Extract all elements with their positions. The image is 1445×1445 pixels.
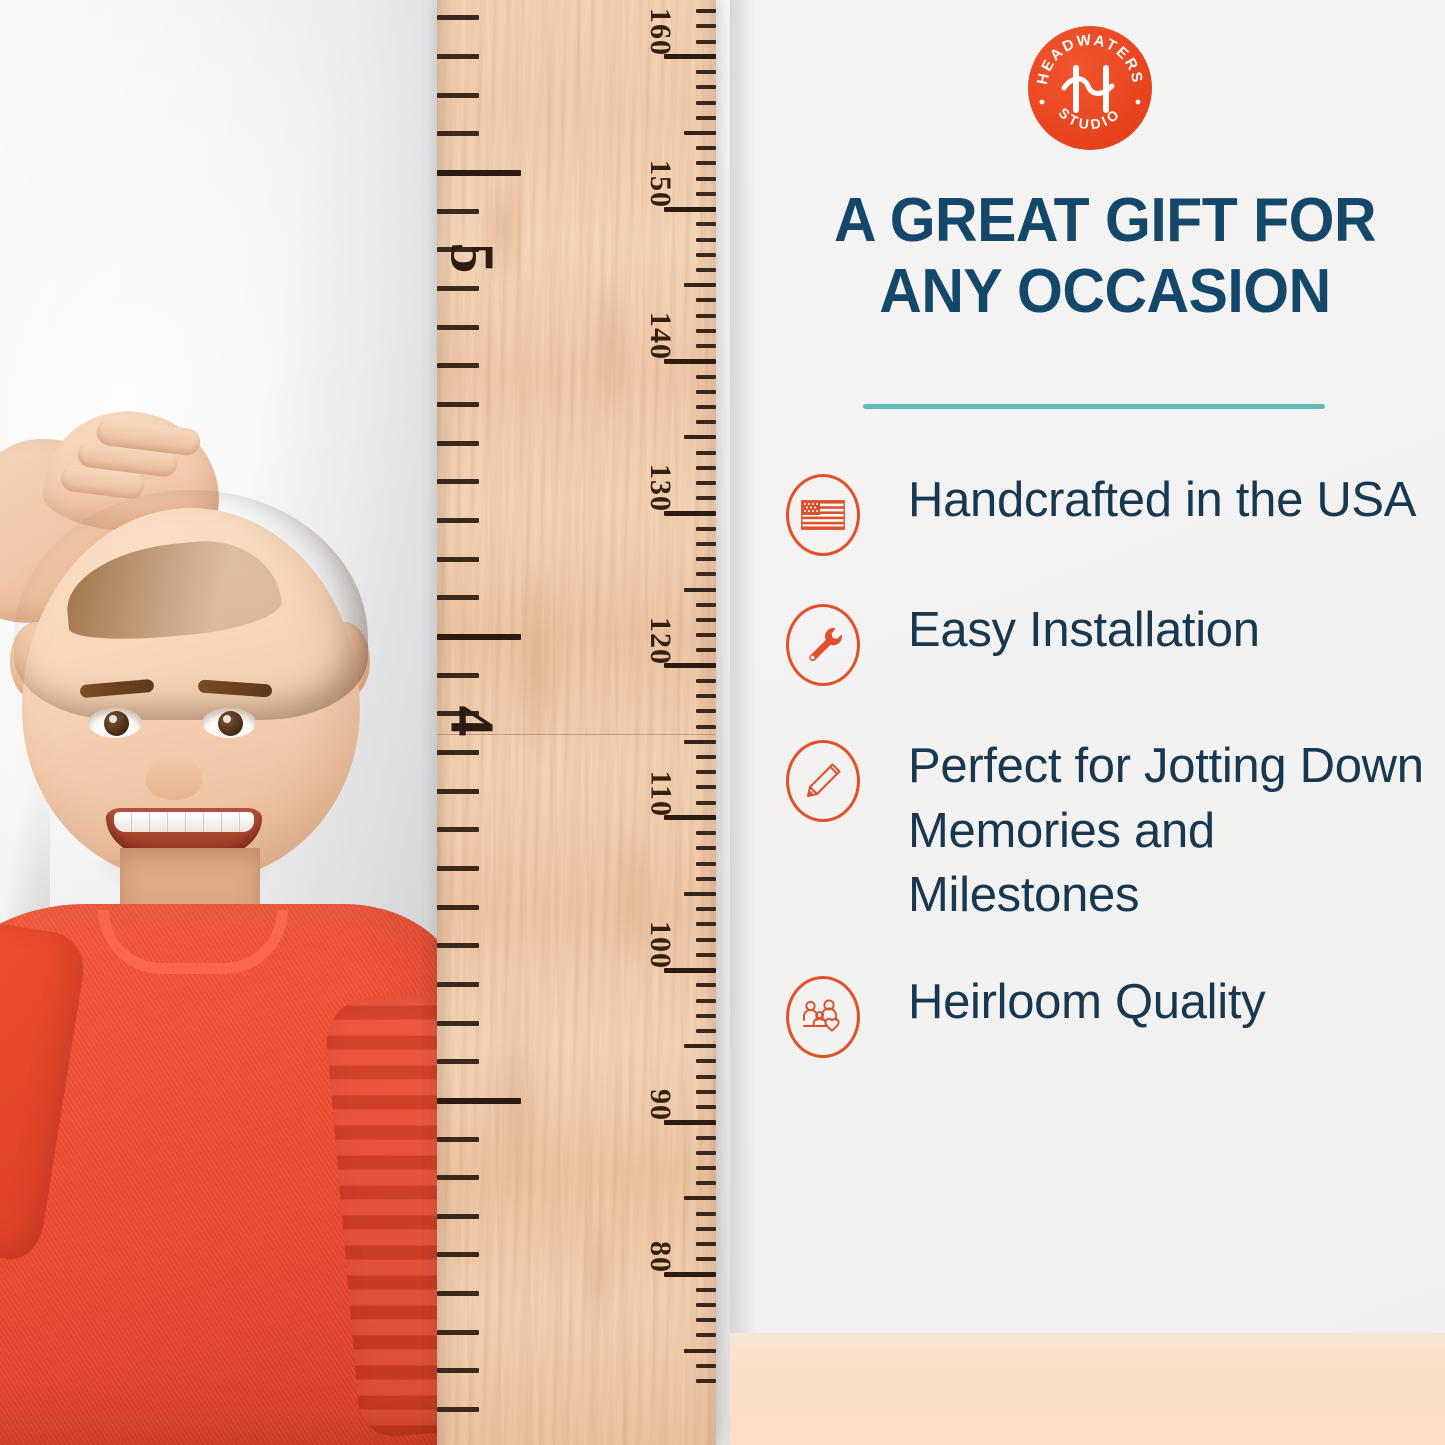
- inch-tick: [437, 131, 479, 136]
- headline-line-1: A GREAT GIFT FOR: [777, 186, 1433, 257]
- inch-tick: [437, 325, 479, 330]
- cm-minor-tick: [696, 1090, 716, 1094]
- inch-tick: [437, 518, 479, 523]
- feature-row-heirloom: Heirloom Quality: [786, 968, 1426, 1058]
- inch-tick: [437, 286, 479, 291]
- cm-minor-tick: [696, 694, 716, 698]
- cm-minor-tick: [696, 603, 716, 607]
- inch-tick: [437, 54, 479, 59]
- cm-minor-tick: [696, 557, 716, 561]
- cm-mid-tick: [684, 740, 716, 744]
- cm-minor-tick: [696, 146, 716, 150]
- inch-tick: [437, 1330, 479, 1335]
- cm-minor-tick: [696, 1166, 716, 1170]
- cm-minor-tick: [696, 907, 716, 911]
- cm-minor-tick: [696, 314, 716, 318]
- feet-scale: 54: [437, 0, 557, 1445]
- cm-minor-tick: [696, 785, 716, 789]
- cm-mid-tick: [684, 1196, 716, 1200]
- cm-minor-tick: [696, 648, 716, 652]
- feature-label: Handcrafted in the USA: [908, 466, 1416, 533]
- cm-minor-tick: [696, 953, 716, 957]
- inch-tick: [437, 905, 479, 910]
- headwaters-studio-logo: HEADWATERS STUDIO: [1028, 26, 1152, 150]
- svg-text:STUDIO: STUDIO: [1056, 104, 1125, 132]
- cm-minor-tick: [696, 1364, 716, 1368]
- growth-chart-ruler: 1601501401301201101009080 54: [437, 0, 716, 1445]
- inch-tick: [437, 1252, 479, 1257]
- cm-minor-tick: [696, 375, 716, 379]
- cm-minor-tick: [696, 298, 716, 302]
- cm-minor-tick: [696, 238, 716, 242]
- cm-minor-tick: [696, 1227, 716, 1231]
- logo-arc-top: HEADWATERS: [1034, 31, 1146, 86]
- cm-minor-tick: [696, 527, 716, 531]
- cm-minor-tick: [696, 1303, 716, 1307]
- cm-minor-tick: [696, 451, 716, 455]
- cm-minor-tick: [696, 846, 716, 850]
- inch-tick: [437, 711, 479, 716]
- svg-text:HEADWATERS: HEADWATERS: [1034, 31, 1146, 86]
- eye-right: [202, 708, 256, 738]
- cm-minor-tick: [696, 572, 716, 576]
- cm-label: 100: [643, 921, 677, 969]
- logo-dot: [1136, 100, 1141, 105]
- ruler-drop-shadow: [730, 0, 756, 1445]
- logo-monogram-h: [1064, 68, 1112, 110]
- inch-tick: [437, 1368, 479, 1373]
- cm-minor-tick: [696, 633, 716, 637]
- inch-tick: [437, 866, 479, 871]
- cm-minor-tick: [696, 40, 716, 44]
- cm-minor-tick: [696, 1059, 716, 1063]
- feet-major-tick: [437, 1098, 521, 1104]
- feature-label: Easy Installation: [908, 596, 1260, 663]
- product-lifestyle-photo: 1601501401301201101009080 54: [0, 0, 730, 1445]
- inch-tick: [437, 363, 479, 368]
- cm-minor-tick: [696, 1212, 716, 1216]
- cm-mid-tick: [684, 283, 716, 287]
- cm-minor-tick: [696, 70, 716, 74]
- feature-row-handcrafted: Handcrafted in the USA: [786, 466, 1426, 556]
- inch-tick: [437, 557, 479, 562]
- cm-minor-tick: [696, 222, 716, 226]
- inch-tick: [437, 1137, 479, 1142]
- cm-minor-tick: [696, 466, 716, 470]
- inch-tick: [437, 943, 479, 948]
- cm-minor-tick: [696, 192, 716, 196]
- inch-tick: [437, 441, 479, 446]
- inch-tick: [437, 1175, 479, 1180]
- cm-minor-tick: [696, 938, 716, 942]
- inch-tick: [437, 93, 479, 98]
- feature-list: Handcrafted in the USA Easy Installation: [786, 466, 1426, 1092]
- inch-tick: [437, 402, 479, 407]
- inch-tick: [437, 247, 479, 252]
- cm-minor-tick: [696, 101, 716, 105]
- cm-minor-tick: [696, 177, 716, 181]
- cm-minor-tick: [696, 1181, 716, 1185]
- cm-minor-tick: [696, 390, 716, 394]
- cm-label: 110: [643, 771, 677, 817]
- inch-tick: [437, 827, 479, 832]
- cm-minor-tick: [696, 1136, 716, 1140]
- inch-tick: [437, 1291, 479, 1296]
- cm-minor-tick: [696, 253, 716, 257]
- inch-tick: [437, 982, 479, 987]
- cm-minor-tick: [696, 755, 716, 759]
- cm-minor-tick: [696, 801, 716, 805]
- cm-mid-tick: [684, 892, 716, 896]
- cm-mid-tick: [684, 588, 716, 592]
- cm-label: 140: [643, 312, 677, 360]
- inch-tick: [437, 673, 479, 678]
- inch-tick: [437, 209, 479, 214]
- cm-label: 130: [643, 464, 677, 512]
- cm-label: 150: [643, 160, 677, 208]
- cm-minor-tick: [696, 1105, 716, 1109]
- cm-minor-tick: [696, 709, 716, 713]
- page-title: A GREAT GIFT FOR ANY OCCASION: [777, 186, 1433, 327]
- cm-minor-tick: [696, 999, 716, 1003]
- wrench-icon: [786, 604, 860, 686]
- feature-label: Heirloom Quality: [908, 968, 1265, 1035]
- cm-minor-tick: [696, 161, 716, 165]
- inch-tick: [437, 789, 479, 794]
- child-subject: [0, 404, 460, 1445]
- cm-minor-tick: [696, 1333, 716, 1337]
- nose: [146, 754, 202, 800]
- cm-minor-tick: [696, 1151, 716, 1155]
- marketing-image: 1601501401301201101009080 54 HEADWATERS …: [0, 0, 1445, 1445]
- cm-minor-tick: [696, 1242, 716, 1246]
- cm-minor-tick: [696, 1288, 716, 1292]
- feature-row-installation: Easy Installation: [786, 596, 1426, 686]
- cm-minor-tick: [696, 1379, 716, 1383]
- cm-minor-tick: [696, 618, 716, 622]
- cm-minor-tick: [696, 542, 716, 546]
- cm-mid-tick: [684, 435, 716, 439]
- cm-minor-tick: [696, 496, 716, 500]
- usa-flag-icon: [786, 474, 860, 556]
- inch-tick: [437, 479, 479, 484]
- cm-mid-tick: [684, 131, 716, 135]
- family-heart-icon: [786, 976, 860, 1058]
- cm-minor-tick: [696, 679, 716, 683]
- inch-tick: [437, 1407, 479, 1412]
- cm-label: 90: [643, 1089, 677, 1121]
- inch-tick: [437, 750, 479, 755]
- inch-tick: [437, 595, 479, 600]
- cm-minor-tick: [696, 329, 716, 333]
- cm-minor-tick: [696, 116, 716, 120]
- floor-right: [730, 1333, 1445, 1445]
- cm-minor-tick: [696, 9, 716, 13]
- cm-minor-tick: [696, 344, 716, 348]
- cm-minor-tick: [696, 24, 716, 28]
- inch-tick: [437, 1059, 479, 1064]
- cm-minor-tick: [696, 1257, 716, 1261]
- feet-major-tick: [437, 634, 521, 640]
- cm-label: 120: [643, 617, 677, 665]
- cm-minor-tick: [696, 983, 716, 987]
- cm-mid-tick: [684, 1044, 716, 1048]
- cm-minor-tick: [696, 831, 716, 835]
- cm-minor-tick: [696, 268, 716, 272]
- cm-mid-tick: [684, 1349, 716, 1353]
- cm-minor-tick: [696, 405, 716, 409]
- logo-dot: [1040, 100, 1045, 105]
- cm-minor-tick: [696, 725, 716, 729]
- inch-tick: [437, 1214, 479, 1219]
- headline-line-2: ANY OCCASION: [777, 257, 1433, 328]
- feature-label: Perfect for Jotting Down Memories and Mi…: [908, 732, 1426, 928]
- cm-minor-tick: [696, 922, 716, 926]
- logo-arc-bottom: STUDIO: [1056, 104, 1125, 132]
- title-divider: [863, 404, 1325, 409]
- cm-minor-tick: [696, 862, 716, 866]
- feet-major-tick: [437, 170, 521, 176]
- cm-minor-tick: [696, 481, 716, 485]
- cm-minor-tick: [696, 1029, 716, 1033]
- eye-left: [88, 708, 142, 738]
- inch-tick: [437, 1021, 479, 1026]
- centimeter-scale: 1601501401301201101009080: [606, 0, 716, 1445]
- cm-minor-tick: [696, 1318, 716, 1322]
- cm-minor-tick: [696, 1014, 716, 1018]
- cm-minor-tick: [696, 770, 716, 774]
- cm-minor-tick: [696, 1075, 716, 1079]
- cm-minor-tick: [696, 877, 716, 881]
- cm-minor-tick: [696, 420, 716, 424]
- cm-label: 80: [643, 1241, 677, 1273]
- feature-row-memories: Perfect for Jotting Down Memories and Mi…: [786, 732, 1426, 928]
- cm-label: 160: [643, 8, 677, 56]
- pencil-icon: [786, 740, 860, 822]
- cm-minor-tick: [696, 85, 716, 89]
- inch-tick: [437, 15, 479, 20]
